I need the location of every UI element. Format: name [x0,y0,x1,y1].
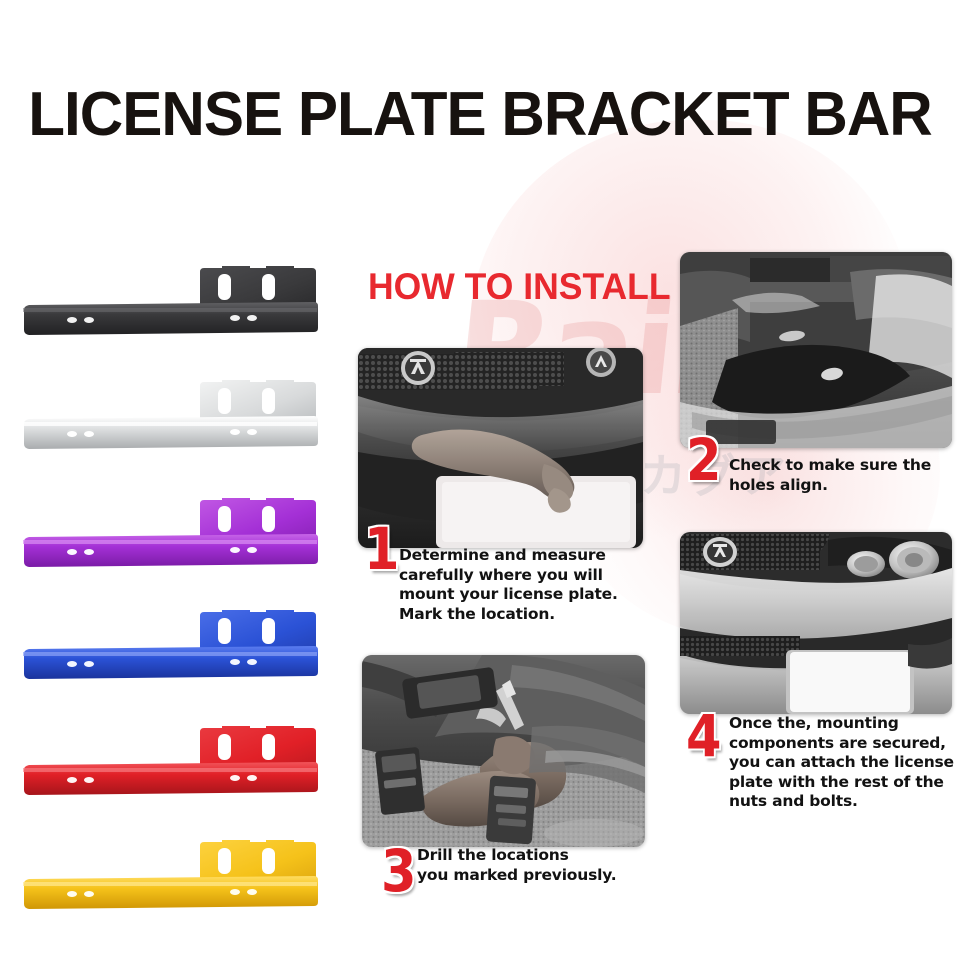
step-1-number: 1 [364,523,400,575]
gold-bracket [22,832,322,932]
product-color-variants [22,240,352,920]
step-3-photo [362,655,645,847]
page-title: LICENSE PLATE BRACKET BAR [14,84,945,146]
step-3-text: Drill the locations you marked previousl… [417,846,645,885]
step-4-photo [680,532,952,714]
step-4-text: Once the, mounting components are secure… [729,714,955,812]
step-1-photo [358,348,643,548]
how-to-install-heading: HOW TO INSTALL [368,268,671,305]
step-2-photo [680,252,952,448]
blue-bracket [22,602,322,702]
step-2-number: 2 [686,434,722,486]
purple-bracket [22,490,322,590]
infographic-page: Raika s ランカグア LICENSE PLATE BRACKET BAR … [0,0,960,960]
step-4-number: 4 [686,710,722,762]
step-1-text: Determine and measure carefully where yo… [399,546,629,624]
step-2-text: Check to make sure the holes align. [729,456,951,495]
step-3-number: 3 [381,845,417,897]
silver-bracket [22,372,322,472]
black-bracket [22,258,322,358]
red-bracket [22,718,322,818]
